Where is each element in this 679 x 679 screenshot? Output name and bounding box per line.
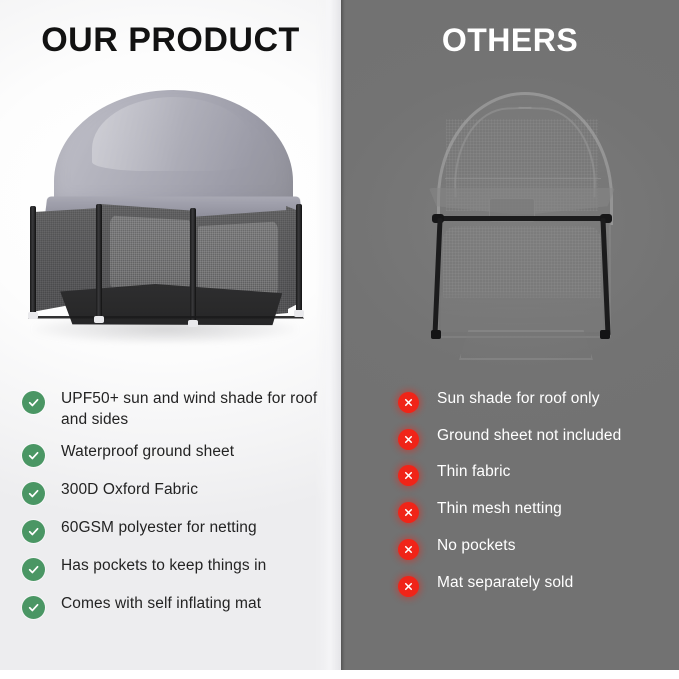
- check-circle-icon: [22, 444, 45, 467]
- list-item-label: Comes with self inflating mat: [61, 593, 261, 614]
- x-circle-icon: [398, 576, 419, 597]
- check-circle-icon: [22, 520, 45, 543]
- check-circle-icon: [22, 391, 45, 414]
- others-feature-list: Sun shade for roof only Ground sheet not…: [398, 388, 678, 609]
- comparison-infographic: OUR PRODUCT ıl BRAND: [0, 0, 679, 679]
- x-circle-icon: [398, 429, 419, 450]
- mesh-window-b: [198, 220, 278, 298]
- competitor-top-rail: [435, 216, 609, 221]
- check-circle-icon: [22, 558, 45, 581]
- others-heading: OTHERS: [341, 22, 679, 59]
- competitor-foot-left: [431, 330, 441, 339]
- frame-post-mid-right: [190, 208, 196, 324]
- frame-foot-mid-right: [188, 320, 198, 327]
- our-product-image: ıl BRAND: [0, 78, 341, 368]
- list-item-label: Thin mesh netting: [437, 498, 562, 519]
- list-item-label: Thin fabric: [437, 461, 510, 482]
- list-item-label: Ground sheet not included: [437, 425, 621, 446]
- list-item: Waterproof ground sheet: [22, 441, 340, 467]
- list-item-label: UPF50+ sun and wind shade for roof and s…: [61, 388, 340, 430]
- list-item: Thin mesh netting: [398, 498, 678, 523]
- x-circle-icon: [398, 465, 419, 486]
- check-circle-icon: [22, 596, 45, 619]
- list-item: Ground sheet not included: [398, 425, 678, 450]
- list-item-label: Has pockets to keep things in: [61, 555, 266, 576]
- competitor-base: [441, 292, 603, 332]
- list-item: Comes with self inflating mat: [22, 593, 340, 619]
- x-circle-icon: [398, 392, 419, 413]
- list-item-label: Sun shade for roof only: [437, 388, 600, 409]
- canopy-roof: [54, 90, 293, 212]
- competitor-mesh-panel: [443, 226, 601, 298]
- list-item-label: Waterproof ground sheet: [61, 441, 234, 462]
- list-item-label: No pockets: [437, 535, 516, 556]
- list-item: No pockets: [398, 535, 678, 560]
- competitor-foot-right: [600, 330, 610, 339]
- others-product-image: [341, 78, 679, 368]
- list-item: Sun shade for roof only: [398, 388, 678, 413]
- check-circle-icon: [22, 482, 45, 505]
- our-product-feature-list: UPF50+ sun and wind shade for roof and s…: [22, 388, 340, 631]
- mesh-window-a: [110, 214, 190, 292]
- list-item: Mat separately sold: [398, 572, 678, 597]
- frame-post-left: [30, 206, 36, 316]
- frame-foot-left: [28, 312, 38, 319]
- our-product-panel: OUR PRODUCT ıl BRAND: [0, 0, 341, 670]
- frame-foot-right: [294, 310, 304, 317]
- our-product-heading: OUR PRODUCT: [0, 21, 341, 60]
- list-item: UPF50+ sun and wind shade for roof and s…: [22, 388, 340, 430]
- x-circle-icon: [398, 539, 419, 560]
- list-item: 300D Oxford Fabric: [22, 479, 340, 505]
- list-item: Has pockets to keep things in: [22, 555, 340, 581]
- dome-crossbar: [445, 178, 601, 179]
- list-item-label: 60GSM polyester for netting: [61, 517, 257, 538]
- list-item: Thin fabric: [398, 461, 678, 486]
- frame-post-mid-left: [96, 204, 102, 320]
- competitor-mat-outline: [459, 330, 593, 360]
- frame-foot-mid-left: [94, 316, 104, 323]
- list-item-label: 300D Oxford Fabric: [61, 479, 198, 500]
- canopy-highlight: [92, 97, 255, 170]
- list-item: 60GSM polyester for netting: [22, 517, 340, 543]
- frame-bottom-rail: [28, 308, 304, 318]
- playpen-body: [28, 204, 304, 324]
- frame-post-right: [296, 204, 302, 314]
- list-item-label: Mat separately sold: [437, 572, 573, 593]
- x-circle-icon: [398, 502, 419, 523]
